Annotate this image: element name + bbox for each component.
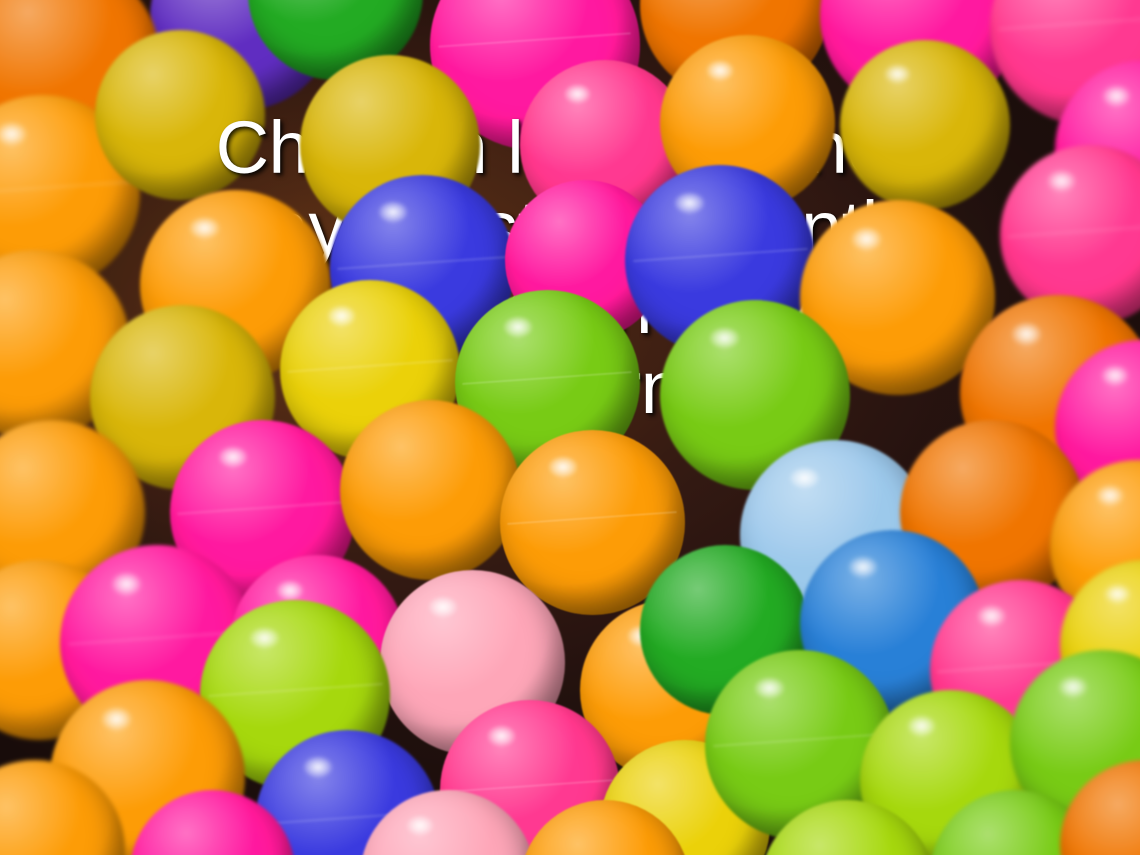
ball bbox=[340, 400, 520, 580]
quote-poster: Children learn as they play. Most import… bbox=[0, 0, 1140, 855]
ball bbox=[840, 40, 1010, 210]
